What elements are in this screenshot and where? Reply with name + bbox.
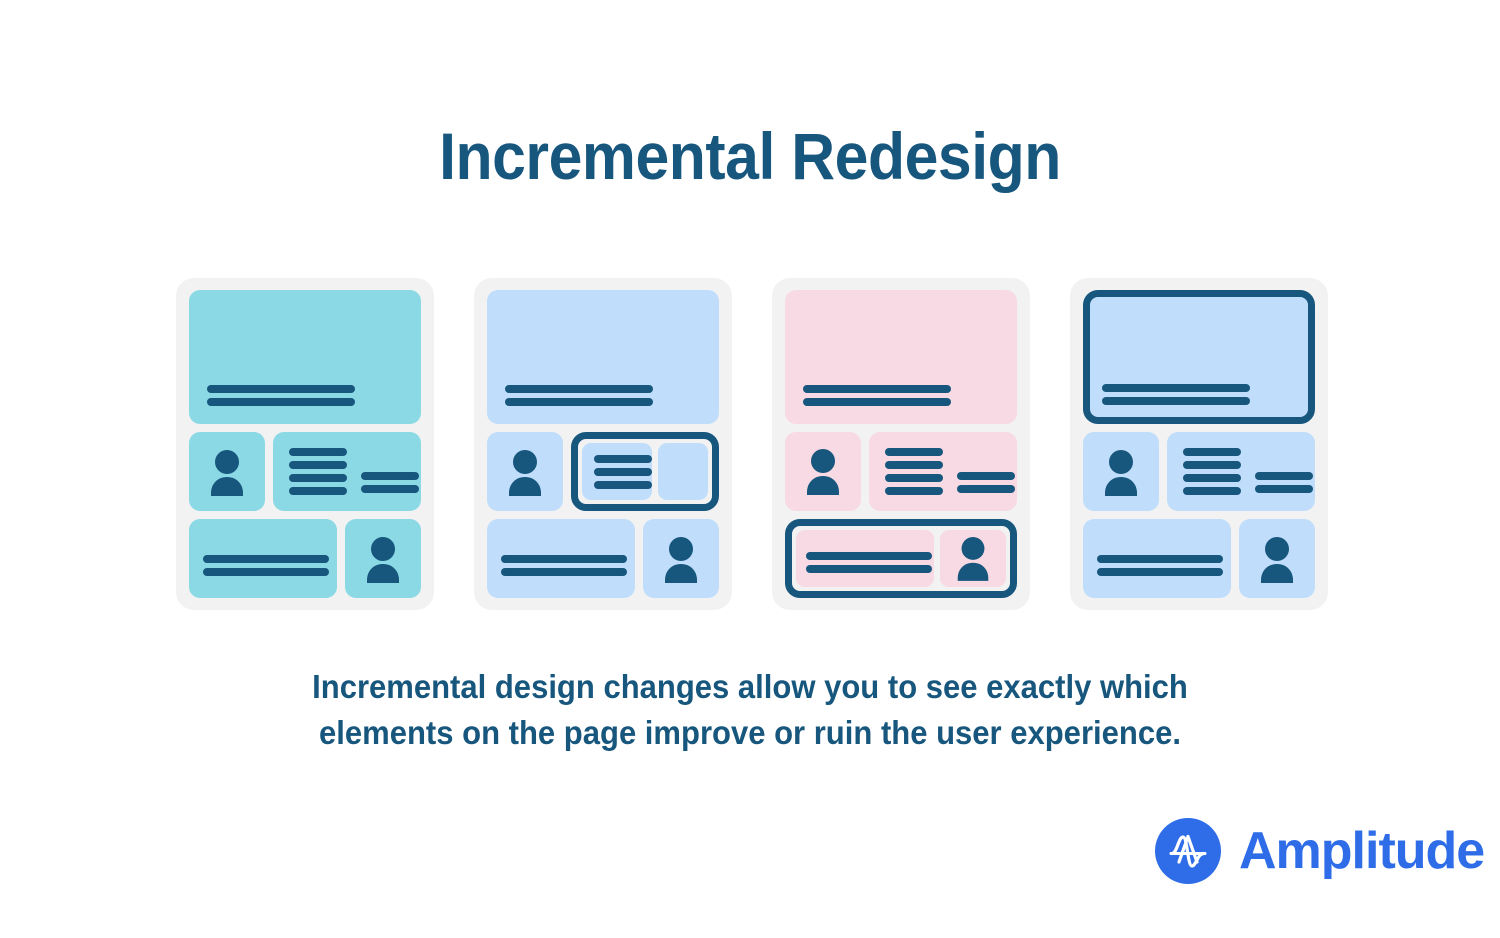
card-4-bottom-lines — [1097, 555, 1223, 576]
person-avatar-icon — [205, 448, 249, 496]
amplitude-wave-a-icon — [1155, 818, 1221, 884]
amplitude-logo[interactable]: Amplitude — [1155, 818, 1484, 884]
card-3-text-right-lines — [957, 472, 1015, 511]
card-1-text-box[interactable] — [273, 432, 421, 511]
text-bar — [203, 555, 329, 563]
amplitude-wordmark: Amplitude — [1239, 821, 1484, 881]
card-3-mid-row — [785, 432, 1017, 511]
card-4-bottom-text-block[interactable] — [1083, 519, 1231, 598]
text-bar — [885, 461, 943, 469]
card-3-highlight-outline[interactable] — [785, 519, 1017, 598]
wireframe-card-3[interactable] — [772, 278, 1030, 610]
text-bar — [289, 448, 347, 456]
text-bar — [1255, 472, 1313, 480]
card-3-text-left-lines — [885, 448, 943, 495]
text-bar — [1102, 384, 1250, 392]
text-bar — [957, 472, 1015, 480]
card-1-avatar-box[interactable] — [189, 432, 265, 511]
card-4-mid-row — [1083, 432, 1315, 511]
text-bar — [885, 448, 943, 456]
text-bar — [207, 398, 355, 406]
text-bar — [289, 461, 347, 469]
text-bar — [594, 455, 652, 463]
text-bar — [1255, 485, 1313, 493]
text-bar — [501, 555, 627, 563]
text-bar — [1183, 448, 1241, 456]
card-2-hero-lines — [505, 385, 653, 406]
text-bar — [207, 385, 355, 393]
card-3-hero-lines — [803, 385, 951, 406]
caption-line-1: Incremental design changes allow you to … — [45, 664, 1455, 710]
text-bar — [885, 487, 943, 495]
card-2-mid-row — [487, 432, 719, 511]
person-avatar-icon — [503, 448, 547, 496]
card-2-bottom-lines — [501, 555, 627, 576]
person-avatar-icon — [801, 447, 845, 495]
card-2-bottom-avatar-box[interactable] — [643, 519, 719, 598]
card-2-bottom-row — [487, 519, 719, 598]
card-1-hero-block[interactable] — [189, 290, 421, 424]
card-2-avatar-box[interactable] — [487, 432, 563, 511]
text-bar — [203, 568, 329, 576]
text-bar — [594, 468, 652, 476]
text-bar — [957, 485, 1015, 493]
text-bar — [1183, 487, 1241, 495]
text-bar — [806, 565, 932, 573]
caption: Incremental design changes allow you to … — [45, 664, 1455, 756]
text-bar — [505, 398, 653, 406]
text-bar — [806, 552, 932, 560]
card-3-highlight-avatar-panel[interactable] — [940, 530, 1006, 587]
text-bar — [505, 385, 653, 393]
person-avatar-icon — [361, 535, 405, 583]
text-bar — [1183, 461, 1241, 469]
person-avatar-icon — [1099, 448, 1143, 496]
card-3-hero-block[interactable] — [785, 290, 1017, 424]
text-bar — [803, 398, 951, 406]
card-1-mid-row — [189, 432, 421, 511]
card-2-highlight-lines — [594, 455, 652, 489]
text-bar — [1102, 397, 1250, 405]
wireframe-card-row — [176, 278, 1328, 610]
card-4-text-right-lines — [1255, 472, 1313, 511]
card-3-text-box[interactable] — [869, 432, 1017, 511]
text-bar — [1097, 568, 1223, 576]
card-1-hero-lines — [207, 385, 355, 406]
text-bar — [1183, 474, 1241, 482]
card-4-text-box[interactable] — [1167, 432, 1315, 511]
card-1-bottom-lines — [203, 555, 329, 576]
card-4-bottom-avatar-box[interactable] — [1239, 519, 1315, 598]
card-4-text-left-lines — [1183, 448, 1241, 495]
caption-line-2: elements on the page improve or ruin the… — [45, 710, 1455, 756]
card-2-hero-block[interactable] — [487, 290, 719, 424]
text-bar — [361, 472, 419, 480]
text-bar — [501, 568, 627, 576]
card-3-highlight-text-panel[interactable] — [796, 530, 934, 587]
wireframe-card-1[interactable] — [176, 278, 434, 610]
card-4-bottom-row — [1083, 519, 1315, 598]
card-1-text-left-lines — [289, 448, 347, 495]
person-avatar-icon — [952, 535, 994, 581]
amplitude-mark-svg — [1165, 828, 1211, 874]
card-1-text-right-lines — [361, 472, 419, 511]
text-bar — [289, 487, 347, 495]
person-avatar-icon — [1255, 535, 1299, 583]
person-avatar-icon — [659, 535, 703, 583]
card-2-highlight-right-panel[interactable] — [658, 443, 708, 500]
card-2-highlight-outline[interactable] — [571, 432, 719, 511]
wireframe-card-2[interactable] — [474, 278, 732, 610]
text-bar — [803, 385, 951, 393]
card-2-highlight-left-panel[interactable] — [582, 443, 652, 500]
text-bar — [885, 474, 943, 482]
card-1-bottom-text-block[interactable] — [189, 519, 337, 598]
card-1-bottom-row — [189, 519, 421, 598]
card-3-highlight-lines — [806, 552, 932, 573]
card-2-bottom-text-block[interactable] — [487, 519, 635, 598]
wireframe-card-4[interactable] — [1070, 278, 1328, 610]
card-4-hero-block[interactable] — [1083, 290, 1315, 424]
text-bar — [289, 474, 347, 482]
page-title: Incremental Redesign — [60, 118, 1440, 194]
text-bar — [361, 485, 419, 493]
text-bar — [1097, 555, 1223, 563]
card-4-avatar-box[interactable] — [1083, 432, 1159, 511]
card-1-bottom-avatar-box[interactable] — [345, 519, 421, 598]
card-4-hero-lines — [1102, 384, 1250, 405]
text-bar — [594, 481, 652, 489]
card-3-avatar-box[interactable] — [785, 432, 861, 511]
